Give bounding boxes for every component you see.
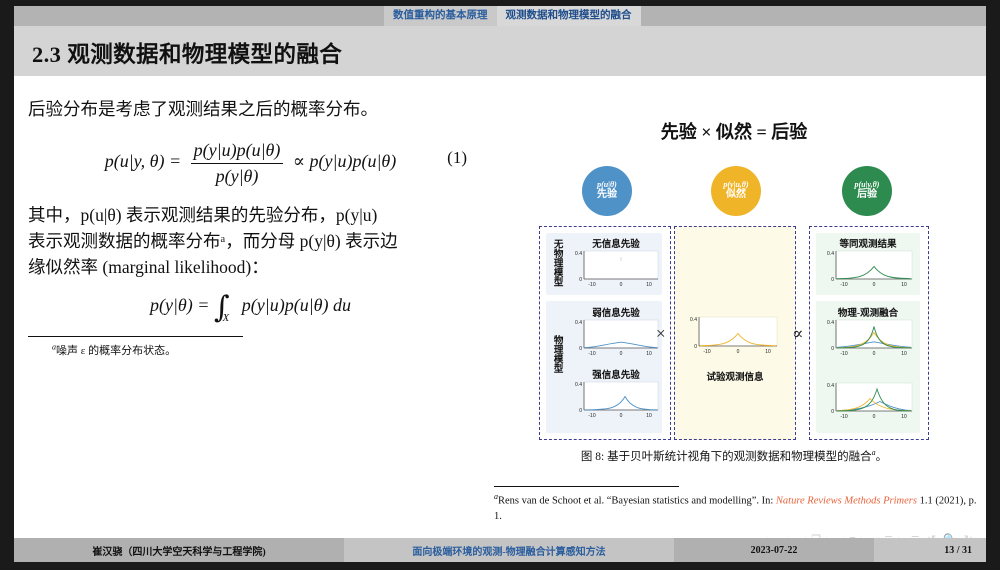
figure-caption-end: 。	[876, 451, 888, 463]
circle-likelihood-label: 似然	[726, 190, 746, 201]
figure-caption-text: 图 8: 基于贝叶斯统计视角下的观测数据和物理模型的融合	[581, 451, 872, 463]
svg-text:-10: -10	[840, 351, 847, 357]
svg-text:0: 0	[831, 346, 834, 352]
svg-text:0: 0	[694, 344, 697, 350]
svg-text:0: 0	[873, 282, 876, 288]
equation-posterior: p(u|y, θ) = p(y|u)p(u|θ) p(y|θ) ∝ p(y|u)…	[28, 138, 473, 188]
footer-talk-title: 面向极端环境的观测-物理融合计算感知方法	[344, 538, 674, 562]
equation-lhs: p(u|y, θ) =	[105, 151, 181, 171]
circle-posterior: p(u|y,θ) 后验	[842, 166, 892, 216]
body-paragraph: 其中，p(u|θ) 表示观测结果的先验分布，p(y|u) 表示观测数据的概率分布…	[28, 202, 473, 281]
label-physical-model: 物理模型	[551, 335, 562, 373]
plot-observation: 0.4 0 -10 0 10	[683, 315, 783, 361]
operator-propto: ∝	[792, 324, 804, 344]
intro-paragraph: 后验分布是考虑了观测结果之后的概率分布。	[28, 96, 473, 122]
svg-text:10: 10	[901, 282, 907, 288]
figure-diagram: 无物理模型 无信息先验 0.4 0 -10 0 10	[484, 224, 984, 440]
svg-text:0: 0	[831, 409, 834, 415]
fraction-numerator: p(y|u)p(u|θ)	[191, 138, 284, 163]
concept-circles: p(u|θ) 先验 p(y|u,θ) 似然 p(u|y,θ) 后验	[484, 166, 984, 224]
svg-text:0: 0	[873, 351, 876, 357]
svg-text:0: 0	[620, 413, 623, 419]
plot-fusion-shifted: 0.4 0 -10 0 10	[820, 381, 918, 425]
title-bar: 2.3 观测数据和物理模型的融合	[14, 26, 986, 76]
integral-domain: X	[223, 312, 230, 324]
svg-text:-10: -10	[588, 282, 595, 288]
svg-text:0: 0	[579, 346, 582, 352]
section-navigation-bar: 数值重构的基本原理 观测数据和物理模型的融合	[14, 6, 986, 26]
equation-rhs: ∝ p(y|u)p(u|θ)	[293, 151, 396, 171]
svg-text:0: 0	[579, 277, 582, 283]
svg-text:10: 10	[901, 351, 907, 357]
subpanel-uninformative: 无物理模型 无信息先验 0.4 0 -10 0 10	[546, 233, 662, 295]
subpanel-equivalent-observation: 等同观测结果 0.4 0 -10 0 10	[816, 233, 920, 295]
panel-prior: 无物理模型 无信息先验 0.4 0 -10 0 10	[539, 226, 671, 440]
svg-text:0: 0	[737, 349, 740, 355]
svg-text:10: 10	[646, 282, 652, 288]
reference-text-a: Rens van de Schoot et al. “Bayesian stat…	[498, 496, 776, 507]
label-no-physical-model: 无物理模型	[551, 239, 562, 287]
svg-text:-10: -10	[840, 414, 847, 420]
left-column: 后验分布是考虑了观测结果之后的概率分布。 p(u|y, θ) = p(y|u)p…	[28, 96, 473, 358]
figure-caption: 图 8: 基于贝叶斯统计视角下的观测数据和物理模型的融合a。	[484, 448, 984, 464]
right-column: 先验 × 似然 = 后验 p(u|θ) 先验 p(y|u,θ) 似然 p(u|y…	[484, 76, 984, 538]
equation-number: (1)	[447, 148, 467, 168]
body-line-2: 表示观测数据的概率分布ᵃ，而分母 p(y|θ) 表示边	[28, 228, 473, 254]
svg-text:0.4: 0.4	[575, 251, 582, 257]
plot-title-uninformative: 无信息先验	[572, 236, 660, 250]
marginal-rhs: p(y|u)p(u|θ) du	[242, 295, 351, 315]
footnote-noise: a噪声 ε 的概率分布状态。	[28, 342, 473, 358]
svg-text:0.4: 0.4	[827, 251, 834, 257]
svg-text:10: 10	[646, 413, 652, 419]
plot-caption-observation: 试验观测信息	[675, 369, 795, 383]
svg-text:-10: -10	[588, 413, 595, 419]
svg-text:0.4: 0.4	[575, 382, 582, 388]
reference-note: aRens van de Schoot et al. “Bayesian sta…	[494, 491, 980, 524]
plot-title-strong-prior: 强信息先验	[572, 367, 660, 381]
nav-spacer	[14, 6, 384, 26]
svg-text:10: 10	[765, 349, 771, 355]
plot-uninformative: 0.4 0 -10 0 10	[570, 249, 660, 293]
plot-weak-prior: 0.4 0 -10 0 10	[570, 318, 660, 362]
footer-bar: 崔汉骁（四川大学空天科学与工程学院) 面向极端环境的观测-物理融合计算感知方法 …	[14, 538, 986, 562]
slide-content: 后验分布是考虑了观测结果之后的概率分布。 p(u|y, θ) = p(y|u)p…	[14, 76, 986, 538]
svg-text:-10: -10	[840, 282, 847, 288]
panel-posterior: 等同观测结果 0.4 0 -10 0 10	[809, 226, 929, 440]
footnote-text: 噪声 ε 的概率分布状态。	[56, 345, 176, 357]
circle-prior: p(u|θ) 先验	[582, 166, 632, 216]
footer-author: 崔汉骁（四川大学空天科学与工程学院)	[14, 538, 344, 562]
subpanel-fusion: 物理-观测融合 0.4 0 -10 0 10	[816, 301, 920, 433]
svg-text:0.4: 0.4	[827, 320, 834, 326]
nav-tab-fusion[interactable]: 观测数据和物理模型的融合	[497, 6, 641, 26]
reference-journal: Nature Reviews Methods Primers	[776, 496, 917, 507]
figure-headline: 先验 × 似然 = 后验	[484, 118, 984, 144]
svg-text:0.4: 0.4	[575, 320, 582, 326]
svg-text:10: 10	[901, 414, 907, 420]
body-line-3: 缘似然率 (marginal likelihood)：	[28, 254, 473, 280]
circle-prior-label: 先验	[597, 190, 617, 201]
plot-title-equivalent: 等同观测结果	[816, 236, 920, 250]
svg-text:-10: -10	[703, 349, 710, 355]
operator-times: ×	[656, 324, 666, 344]
circle-posterior-label: 后验	[857, 190, 877, 201]
svg-text:10: 10	[646, 351, 652, 357]
slide: 数值重构的基本原理 观测数据和物理模型的融合 2.3 观测数据和物理模型的融合 …	[14, 6, 986, 562]
equation-marginal-likelihood: p(y|θ) = ∫X p(y|u)p(u|θ) du	[28, 295, 473, 324]
page-title: 2.3 观测数据和物理模型的融合	[32, 37, 342, 69]
panel-likelihood: 0.4 0 -10 0 10 试验观测信息	[674, 226, 796, 440]
svg-text:-10: -10	[588, 351, 595, 357]
plot-title-weak-prior: 弱信息先验	[572, 305, 660, 319]
svg-text:0: 0	[873, 414, 876, 420]
plot-title-fusion: 物理-观测融合	[816, 305, 920, 319]
svg-text:0: 0	[579, 408, 582, 414]
svg-text:0: 0	[620, 351, 623, 357]
marginal-lhs: p(y|θ) =	[150, 295, 209, 315]
body-line-1: 其中，p(u|θ) 表示观测结果的先验分布，p(y|u)	[28, 202, 473, 228]
reference-divider	[494, 486, 679, 487]
footer-date: 2023-07-22	[674, 538, 874, 562]
plot-strong-prior: 0.4 0 -10 0 10	[570, 380, 660, 424]
nav-tab-basics[interactable]: 数值重构的基本原理	[384, 6, 497, 26]
plot-equivalent-observation: 0.4 0 -10 0 10	[820, 249, 918, 293]
svg-text:0.4: 0.4	[827, 383, 834, 389]
footnote-divider	[28, 336, 243, 337]
equation-fraction: p(y|u)p(u|θ) p(y|θ)	[191, 138, 284, 188]
plot-fusion-centered: 0.4 0 -10 0 10	[820, 318, 918, 362]
svg-text:0: 0	[620, 282, 623, 288]
circle-likelihood: p(y|u,θ) 似然	[711, 166, 761, 216]
svg-text:0: 0	[831, 277, 834, 283]
subpanel-physical-model: 物理模型 弱信息先验 0.4 0 -10 0 10	[546, 301, 662, 433]
footer-page-number: 13 / 31	[874, 538, 986, 562]
svg-text:0.4: 0.4	[690, 317, 697, 323]
fraction-denominator: p(y|θ)	[191, 164, 284, 188]
